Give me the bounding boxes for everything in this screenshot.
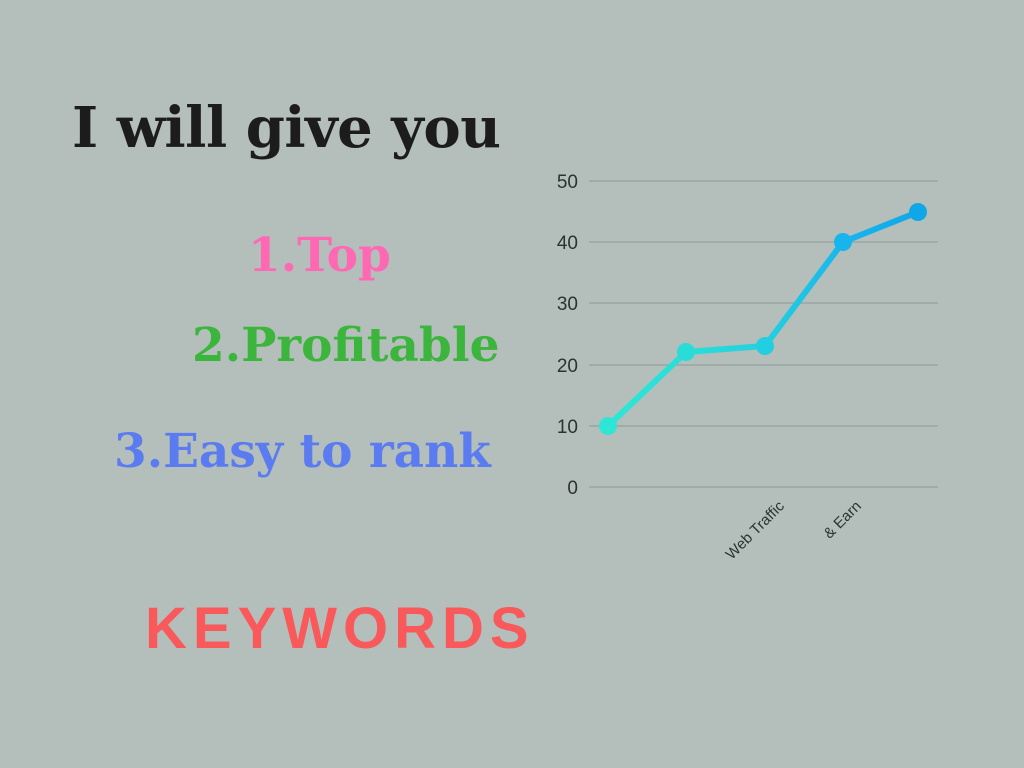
chart-data-line [608, 212, 918, 426]
y-tick-label-40: 40 [557, 233, 578, 254]
y-tick-label-30: 30 [557, 294, 578, 315]
y-tick-label-10: 10 [557, 417, 578, 438]
data-point-5 [909, 203, 927, 221]
data-point-3 [756, 337, 774, 355]
data-point-1 [599, 417, 617, 435]
page-title: I will give you [72, 100, 500, 156]
y-axis-tick-labels: 50 40 30 20 10 0 [557, 172, 578, 499]
y-tick-label-20: 20 [557, 356, 578, 377]
list-item-profitable: 2.Profitable [192, 322, 499, 369]
list-item-easy-to-rank: 3.Easy to rank [114, 428, 491, 475]
x-axis-tick-labels: Web Traffic & Earn [723, 497, 865, 563]
list-item-top: 1.Top [248, 232, 391, 279]
y-tick-label-50: 50 [557, 172, 578, 193]
x-tick-label-web-traffic: Web Traffic [723, 497, 789, 563]
data-point-4 [834, 233, 852, 251]
data-point-2 [677, 343, 695, 361]
keywords-wordmark: KEYWORDS [145, 595, 535, 662]
chart-data-points [599, 203, 927, 435]
chart-svg: 50 40 30 20 10 0 Web Traffic & Earn [530, 155, 960, 595]
slide-canvas: I will give you 1.Top 2.Profitable 3.Eas… [0, 0, 1024, 768]
x-tick-label-and-earn: & Earn [820, 498, 864, 542]
y-tick-label-0: 0 [567, 478, 578, 499]
line-chart: 50 40 30 20 10 0 Web Traffic & Earn [530, 155, 960, 595]
